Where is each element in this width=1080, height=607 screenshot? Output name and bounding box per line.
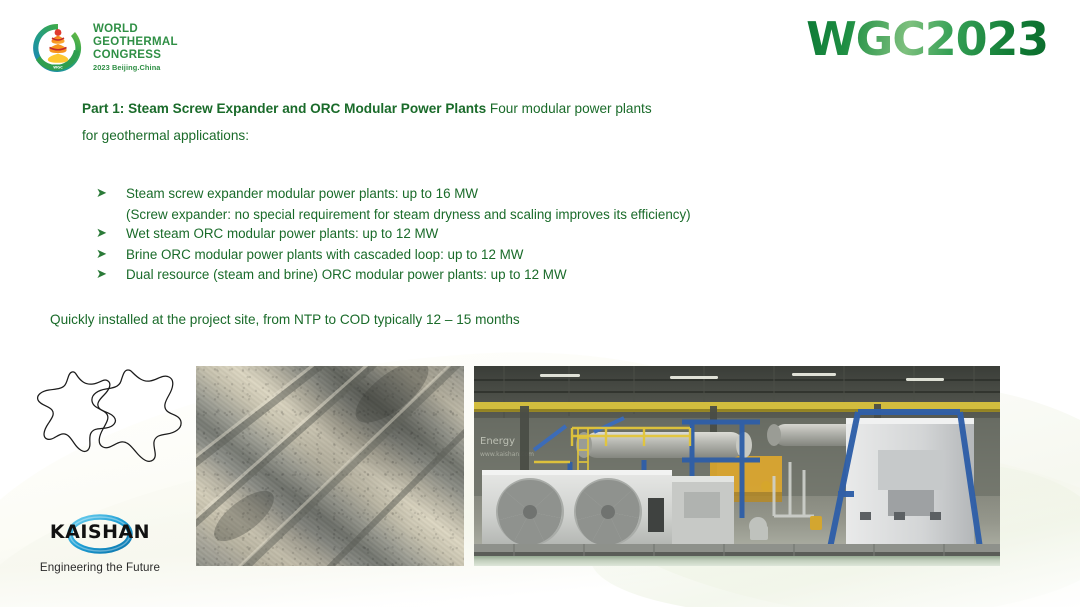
arrow-bullet-icon: ➤ — [96, 245, 126, 265]
orc-modular-power-plant-photo: Energy www.kaishan.com — [474, 366, 1000, 566]
bullet-text: Brine ORC modular power plants with casc… — [126, 245, 956, 265]
list-item: ➤ Brine ORC modular power plants with ca… — [96, 245, 956, 265]
slide-canvas: WGC WORLD GEOTHERMAL CONGRESS 2023 Beiji… — [0, 0, 1080, 607]
svg-text:Energy: Energy — [480, 436, 515, 447]
list-item: ➤ Wet steam ORC modular power plants: up… — [96, 224, 956, 244]
bullet-text: Dual resource (steam and brine) ORC modu… — [126, 265, 956, 285]
list-item: ➤ Steam screw expander modular power pla… — [96, 184, 956, 204]
wgc-logo-line-congress: CONGRESS — [93, 50, 178, 62]
bullet-list: ➤ Steam screw expander modular power pla… — [96, 184, 956, 286]
wgc-logo-subtitle: 2023 Beijing.China — [93, 64, 178, 71]
bullet-subtext: (Screw expander: no special requirement … — [96, 205, 956, 225]
headline-second-line: for geothermal applications: — [82, 123, 942, 150]
arrow-bullet-icon: ➤ — [96, 265, 126, 285]
wgc-logo-line-geothermal: GEOTHERMAL — [93, 37, 178, 49]
wgc-emblem-icon: WGC — [30, 20, 86, 76]
list-item: ➤ Dual resource (steam and brine) ORC mo… — [96, 265, 956, 285]
headline-regular-text: Four modular power plants — [486, 101, 651, 116]
arrow-bullet-icon: ➤ — [96, 184, 126, 204]
installation-note: Quickly installed at the project site, f… — [50, 310, 520, 330]
headline-bold-text: Part 1: Steam Screw Expander and ORC Mod… — [82, 101, 486, 116]
kaishan-tagline: Engineering the Future — [22, 561, 178, 574]
bullet-text: Steam screw expander modular power plant… — [126, 184, 956, 204]
kaishan-logo: KAISHAN Engineering the Future — [22, 512, 178, 584]
headline-paragraph: Part 1: Steam Screw Expander and ORC Mod… — [82, 96, 942, 149]
arrow-bullet-icon: ➤ — [96, 224, 126, 244]
page-title: WGC2023 — [806, 16, 1048, 62]
screw-rotor-closeup-photo — [196, 366, 464, 566]
bullet-text: Wet steam ORC modular power plants: up t… — [126, 224, 956, 244]
svg-text:WGC: WGC — [53, 66, 63, 70]
kaishan-logo-mark: KAISHAN — [36, 512, 164, 556]
kaishan-wordmark: KAISHAN — [36, 523, 164, 542]
screw-rotor-profile-diagram — [24, 368, 184, 473]
wgc-wordmark: WORLD GEOTHERMAL CONGRESS 2023 Beijing.C… — [93, 24, 178, 71]
wgc-congress-logo: WGC WORLD GEOTHERMAL CONGRESS 2023 Beiji… — [30, 16, 200, 80]
wgc-logo-line-world: WORLD — [93, 24, 178, 36]
